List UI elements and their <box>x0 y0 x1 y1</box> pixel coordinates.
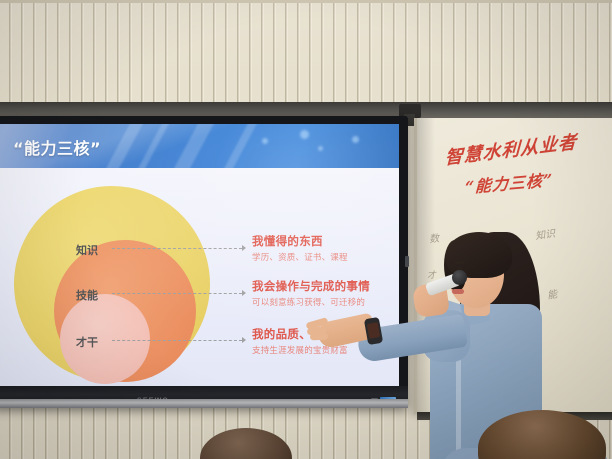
whiteboard-handwriting-line1: 智慧水利从业者 <box>445 128 578 171</box>
presenter-lips <box>452 289 464 294</box>
bullet-2-heading: 我会操作与完成的事情 <box>252 278 370 294</box>
connector-arrow-2-icon <box>242 290 246 296</box>
display-chin-strip <box>0 399 408 408</box>
slide-bullet-2: 我会操作与完成的事情 可以刻意练习获得、可迁移的 <box>252 278 370 308</box>
banner-bokeh-2 <box>300 130 309 139</box>
circle-talent <box>60 294 150 384</box>
interactive-flat-panel-display[interactable]: “能力三核” 知识 技能 才干 我懂得的东西 <box>0 116 408 408</box>
presenter-watch-face <box>367 322 380 339</box>
banner-bokeh-1 <box>262 138 268 144</box>
bullet-2-sub: 可以刻意练习获得、可迁移的 <box>252 296 370 308</box>
whiteboard-handwriting-line2: “能力三核” <box>465 166 554 198</box>
slide-title: “能力三核” <box>13 135 101 159</box>
connector-line-2 <box>112 293 242 294</box>
bullet-1-sub: 学历、资质、证书、课程 <box>252 251 348 263</box>
banner-streak-4 <box>217 124 264 168</box>
classroom-scene: 智慧水利从业者 “能力三核” 数 知识 能 才 “能力三核” <box>0 0 612 459</box>
connector-line-1 <box>112 248 242 249</box>
connector-line-3 <box>112 340 242 341</box>
circle-label-knowledge: 知识 <box>76 242 98 258</box>
banner-bokeh-3 <box>318 146 323 151</box>
wall-top-edge <box>0 0 612 3</box>
bullet-3-sub: 支持生涯发展的宝贵财富 <box>252 344 370 356</box>
presenter-finger-3 <box>310 333 328 341</box>
connector-arrow-1-icon <box>242 245 246 251</box>
banner-streak-3 <box>167 124 221 168</box>
display-screen[interactable]: “能力三核” 知识 技能 才干 我懂得的东西 <box>0 124 399 386</box>
presentation-slide: “能力三核” 知识 技能 才干 我懂得的东西 <box>0 124 399 386</box>
circle-label-talent: 才干 <box>76 334 98 350</box>
connector-arrow-3-icon <box>242 337 246 343</box>
slide-bullet-1: 我懂得的东西 学历、资质、证书、课程 <box>252 233 348 263</box>
slide-title-banner: “能力三核” <box>0 124 399 168</box>
bullet-1-heading: 我懂得的东西 <box>252 233 348 249</box>
microphone-head-icon <box>452 270 467 285</box>
display-bottom-bezel: SEEWO <box>0 386 408 408</box>
banner-bokeh-4 <box>352 136 359 143</box>
circle-label-skill: 技能 <box>76 287 98 303</box>
slide-body: 知识 技能 才干 我懂得的东西 学历、资质、证书、课程 我会操作与完成的事情 <box>0 168 399 386</box>
